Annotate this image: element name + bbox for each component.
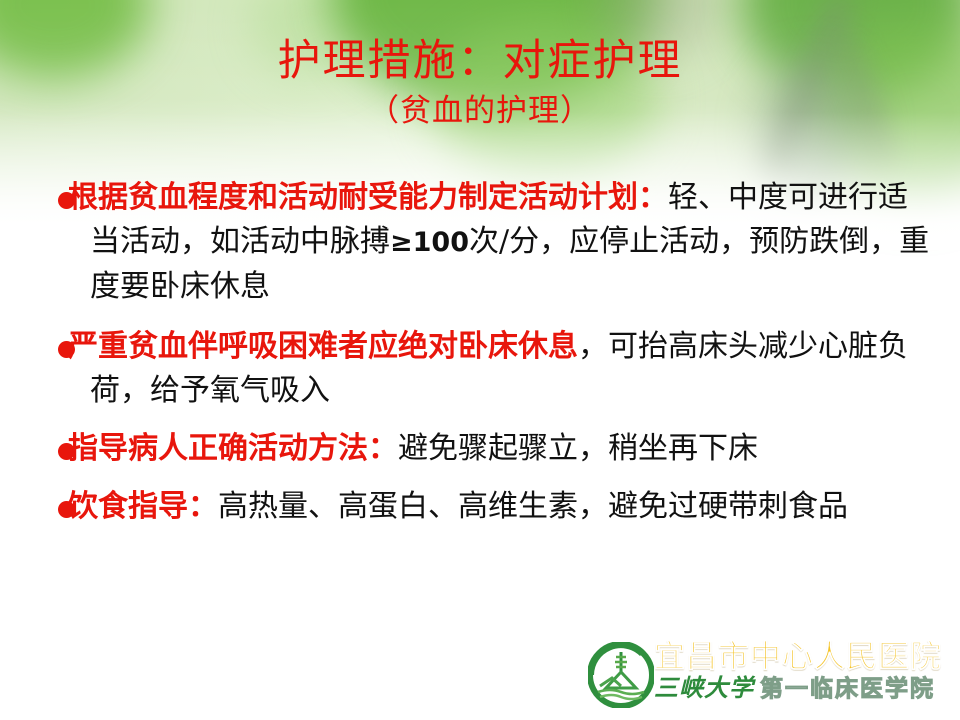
bullet-dot-icon [58,501,75,518]
page-subtitle: （贫血的护理） [0,90,960,132]
list-item: 饮食指导：高热量、高蛋白、高维生素，避免过硬带刺食品 [52,485,934,529]
page-title: 护理措施：对症护理 [0,34,960,88]
slide: 护理措施：对症护理 （贫血的护理） 根据贫血程度和活动耐受能力制定活动计划：轻、… [0,0,960,720]
clinic-college-name: 第一临床医学院 [760,676,935,702]
title-block: 护理措施：对症护理 （贫血的护理） [0,34,960,132]
bullet-dot-icon [58,341,75,358]
list-item-lead: 饮食指导： [68,489,218,524]
list-item-lead: 严重贫血伴呼吸困难者应绝对卧床休息 [68,329,578,364]
bullet-dot-icon [58,443,75,460]
hospital-name: 宜昌市中心人民医院 [654,640,954,674]
list-item-text: 指导病人正确活动方法：避免骤起骤立，稍坐再下床 [90,427,934,471]
hospital-logo-text: 宜昌市中心人民医院 三峡大学第一临床医学院 [654,640,954,706]
bullet-list: 根据贫血程度和活动耐受能力制定活动计划：轻、中度可进行适当活动，如活动中脉搏≥1… [52,176,934,543]
list-item: 严重贫血伴呼吸困难者应绝对卧床休息，可抬高床头减少心脏负荷，给予氧气吸入 [52,325,934,413]
list-item-text: 严重贫血伴呼吸困难者应绝对卧床休息，可抬高床头减少心脏负荷，给予氧气吸入 [90,325,934,413]
hospital-emblem-icon [588,642,654,708]
list-item-body: 高热量、高蛋白、高维生素，避免过硬带刺食品 [218,489,848,524]
hospital-affiliation: 三峡大学第一临床医学院 [654,673,954,706]
bullet-dot-icon [58,192,75,209]
hospital-logo: 宜昌市中心人民医院 三峡大学第一临床医学院 [588,638,960,720]
list-item: 指导病人正确活动方法：避免骤起骤立，稍坐再下床 [52,427,934,471]
list-item: 根据贫血程度和活动耐受能力制定活动计划：轻、中度可进行适当活动，如活动中脉搏≥1… [52,176,934,309]
pulse-threshold-value: ≥100 [390,227,469,258]
list-item-body: 避免骤起骤立，稍坐再下床 [398,431,758,466]
list-item-lead: 指导病人正确活动方法： [68,431,398,466]
list-item-text: 饮食指导：高热量、高蛋白、高维生素，避免过硬带刺食品 [90,485,934,529]
slide-content: 护理措施：对症护理 （贫血的护理） 根据贫血程度和活动耐受能力制定活动计划：轻、… [0,0,960,720]
list-item-lead: 根据贫血程度和活动耐受能力制定活动计划： [68,180,668,215]
university-name: 三峡大学 [654,673,754,702]
list-item-text: 根据贫血程度和活动耐受能力制定活动计划：轻、中度可进行适当活动，如活动中脉搏≥1… [90,176,934,309]
